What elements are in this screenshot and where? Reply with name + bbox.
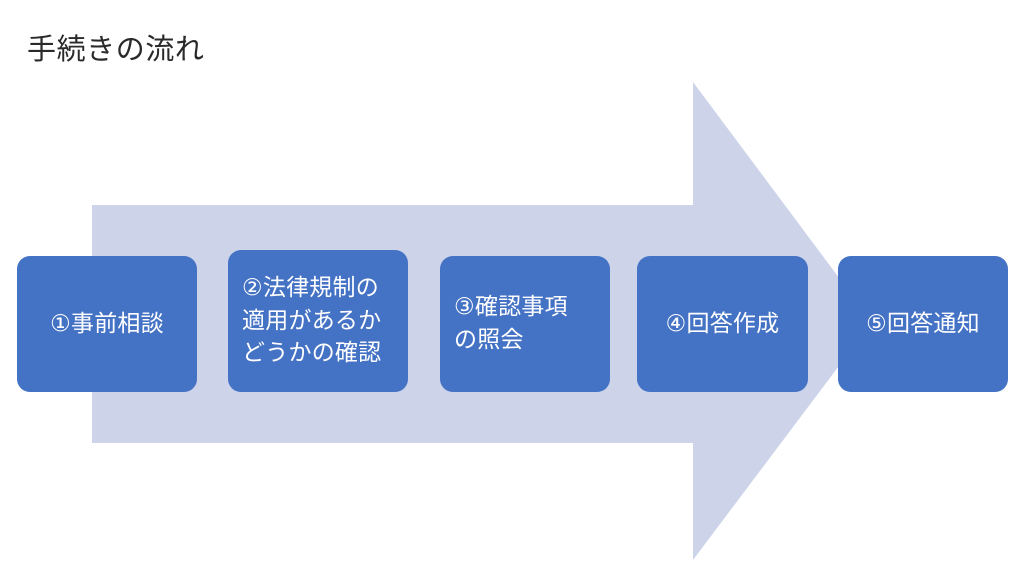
- step-box-2[interactable]: ②法律規制の 適用があるか どうかの確認: [228, 250, 408, 392]
- step-box-4[interactable]: ④回答作成: [637, 256, 808, 392]
- step-label-4: ④回答作成: [651, 308, 798, 341]
- step-box-1[interactable]: ①事前相談: [17, 256, 197, 392]
- step-label-5: ⑤回答通知: [852, 308, 998, 341]
- step-box-5[interactable]: ⑤回答通知: [838, 256, 1008, 392]
- page-title: 手続きの流れ: [27, 34, 204, 66]
- slide-canvas: ①事前相談 ②法律規制の 適用があるか どうかの確認 ③確認事項 の照会 ④回答…: [0, 0, 1024, 576]
- step-label-3: ③確認事項 の照会: [454, 291, 600, 356]
- step-label-1: ①事前相談: [31, 308, 187, 341]
- step-box-3[interactable]: ③確認事項 の照会: [440, 256, 610, 392]
- step-label-2: ②法律規制の 適用があるか どうかの確認: [242, 272, 398, 370]
